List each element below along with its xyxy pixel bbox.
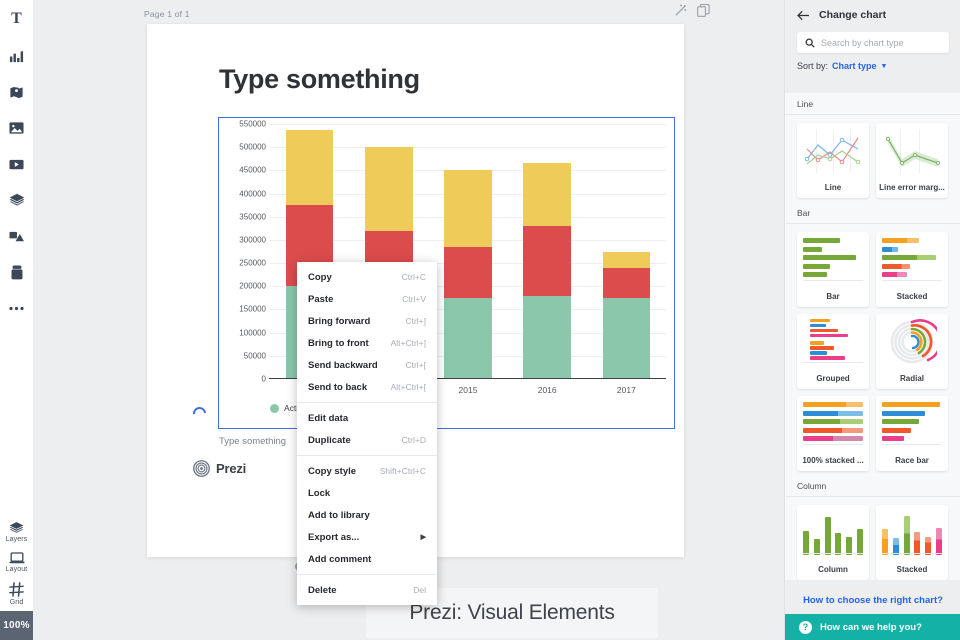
context-menu-item-label: Lock xyxy=(308,488,330,499)
context-menu-item-label: Send backward xyxy=(308,360,378,371)
bar-group xyxy=(444,170,492,379)
legend-swatch-action xyxy=(270,404,279,413)
bar-chart-icon xyxy=(9,49,24,64)
prezi-logo: Prezi xyxy=(193,460,246,477)
text-tool[interactable]: T xyxy=(0,0,33,38)
chart-type-line-error-margin[interactable]: Line error marg... xyxy=(876,123,948,198)
bar-segment xyxy=(523,163,571,226)
text-icon: T xyxy=(11,10,22,28)
y-tick-label: 0 xyxy=(262,375,266,384)
sort-control: Sort by: Chart type ▼ xyxy=(785,53,960,77)
section-items-line: Line Line error m xyxy=(785,115,960,202)
bar-segment xyxy=(523,296,571,379)
context-menu-item-shortcut: Ctrl+] xyxy=(405,316,426,326)
context-menu-item-send-to-back[interactable]: Send to back Alt+Ctrl+[ xyxy=(297,376,437,398)
grid-icon xyxy=(9,582,24,597)
context-menu-item-shortcut: Shift+Ctrl+C xyxy=(380,466,426,476)
stickers-tool[interactable] xyxy=(0,182,33,218)
prezi-wordmark: Prezi xyxy=(216,461,246,476)
section-title-bar: Bar xyxy=(785,202,960,224)
context-menu-separator xyxy=(297,402,437,403)
panel-title: Change chart xyxy=(819,9,886,21)
page-tools xyxy=(674,4,710,22)
bar-segment xyxy=(603,268,651,298)
context-menu-item-copy[interactable]: Copy Ctrl+C xyxy=(297,266,437,288)
bar-segment xyxy=(523,226,571,296)
y-tick-label: 350000 xyxy=(239,212,266,221)
x-tick-label: 2015 xyxy=(459,385,478,395)
y-tick-label: 100000 xyxy=(239,328,266,337)
line-multi-thumbnail-art xyxy=(797,123,869,179)
container-icon xyxy=(11,265,23,280)
bar-single-thumbnail-art xyxy=(797,232,869,288)
y-tick-label: 400000 xyxy=(239,189,266,198)
chart-object[interactable]: 550000 500000 450000 400000 350000 30000… xyxy=(218,117,675,429)
choose-right-chart-link[interactable]: How to choose the right chart? xyxy=(785,595,960,606)
grid-panel-button[interactable]: Grid xyxy=(0,578,33,611)
chart-search-box[interactable] xyxy=(797,32,949,53)
section-items-column: Column Stacked xyxy=(785,497,960,580)
context-menu-item-add-to-library[interactable]: Add to library xyxy=(297,504,437,526)
context-menu-item-bring-to-front[interactable]: Bring to front Alt+Ctrl+] xyxy=(297,332,437,354)
prezi-design-editor: T xyxy=(0,0,960,640)
more-tool[interactable] xyxy=(0,290,33,326)
chevron-down-icon[interactable]: ▼ xyxy=(881,63,888,70)
context-menu-separator xyxy=(297,574,437,575)
chart-type-label: Stacked xyxy=(876,561,948,580)
context-menu-separator xyxy=(297,455,437,456)
section-title-line: Line xyxy=(785,93,960,115)
map-tool[interactable] xyxy=(0,74,33,110)
context-menu-item-label: Send to back xyxy=(308,382,367,393)
context-menu-item-label: Bring to front xyxy=(308,338,369,349)
context-menu-item-label: Bring forward xyxy=(308,316,370,327)
shapes-icon xyxy=(9,230,24,243)
context-menu-item-label: Edit data xyxy=(308,413,348,424)
bar-segment xyxy=(365,147,413,230)
chart-type-column[interactable]: Column xyxy=(797,505,869,580)
context-menu-item-label: Paste xyxy=(308,294,333,305)
context-menu-item-shortcut: Del xyxy=(413,585,426,595)
magic-wand-icon[interactable] xyxy=(674,4,687,22)
page-indicator: Page 1 of 1 xyxy=(144,9,190,19)
grid-panel-label: Grid xyxy=(10,599,24,606)
slide-title[interactable]: Type something xyxy=(219,64,420,95)
back-arrow-icon[interactable] xyxy=(797,10,810,21)
context-menu[interactable]: Copy Ctrl+C Paste Ctrl+V Bring forward C… xyxy=(297,262,437,605)
race-bar-thumbnail-art xyxy=(876,396,948,452)
help-bar[interactable]: ? How can we help you? xyxy=(785,614,960,640)
x-tick-label: 2017 xyxy=(617,385,636,395)
change-chart-panel: Change chart Sort by: Chart type ▼ Line xyxy=(784,0,960,640)
submenu-arrow-icon: ▶ xyxy=(421,533,426,541)
bar-segment xyxy=(444,298,492,379)
context-menu-item-duplicate[interactable]: Duplicate Ctrl+D xyxy=(297,429,437,451)
chart-type-label: Grouped xyxy=(797,370,869,389)
context-menu-item-delete[interactable]: Delete Del xyxy=(297,579,437,601)
search-input[interactable] xyxy=(821,38,941,48)
video-tool[interactable] xyxy=(0,146,33,182)
layout-panel-label: Layout xyxy=(6,566,28,573)
context-menu-item-label: Add comment xyxy=(308,554,371,565)
context-menu-item-label: Delete xyxy=(308,585,337,596)
chart-type-label: Radial xyxy=(876,370,948,389)
container-tool[interactable] xyxy=(0,254,33,290)
chart-type-stacked-bar[interactable]: Stacked xyxy=(876,232,948,307)
chart-type-label: Stacked xyxy=(876,288,948,307)
bar-segment xyxy=(444,247,492,298)
bar-segment xyxy=(444,170,492,246)
layout-icon xyxy=(9,552,25,564)
help-bar-label: How can we help you? xyxy=(820,622,922,633)
search-icon xyxy=(805,38,815,48)
chart-type-grouped-bar[interactable]: Grouped xyxy=(797,314,869,389)
zoom-level-badge[interactable]: 100% xyxy=(0,611,33,640)
bar-segment xyxy=(603,252,651,268)
image-tool[interactable] xyxy=(0,110,33,146)
chart-type-radial[interactable]: Radial xyxy=(876,314,948,389)
context-menu-item-shortcut: Alt+Ctrl+[ xyxy=(391,382,426,392)
context-menu-item-shortcut: Ctrl+[ xyxy=(405,360,426,370)
bar-segment xyxy=(286,130,334,205)
layers-panel-label: Layers xyxy=(6,536,28,543)
layers-stack-icon xyxy=(9,193,25,207)
left-toolbar: T xyxy=(0,0,34,640)
y-tick-label: 250000 xyxy=(239,259,266,268)
chart-type-label: 100% stacked ... xyxy=(797,452,869,471)
column-single-thumbnail-art xyxy=(797,505,869,561)
y-tick-label: 550000 xyxy=(239,120,266,129)
x-tick-label: 2016 xyxy=(538,385,557,395)
chart-type-label: Line error marg... xyxy=(876,179,948,198)
context-menu-item-lock[interactable]: Lock xyxy=(297,482,437,504)
chart-type-list[interactable]: Line xyxy=(785,93,960,580)
canvas-area: Page 1 of 1 Type something xyxy=(33,0,784,640)
map-pin-icon xyxy=(9,85,24,100)
chart-type-label: Race bar xyxy=(876,452,948,471)
radial-thumbnail-art xyxy=(876,314,948,370)
chart-type-line[interactable]: Line xyxy=(797,123,869,198)
bar-segment xyxy=(603,298,651,379)
context-menu-item-label: Export as... xyxy=(308,532,359,543)
prezi-spiral-icon xyxy=(193,460,210,477)
panel-header: Change chart xyxy=(785,0,960,30)
chart-type-label: Bar xyxy=(797,288,869,307)
left-toolbar-bottom: Layers Layout Grid xyxy=(0,517,33,640)
sort-label: Sort by: xyxy=(797,61,828,71)
y-tick-label: 150000 xyxy=(239,305,266,314)
y-tick-label: 450000 xyxy=(239,166,266,175)
column-stacked-thumbnail-art xyxy=(876,505,948,561)
bar-group xyxy=(523,163,571,379)
line-error-thumbnail-art xyxy=(876,123,948,179)
context-menu-item-edit-data[interactable]: Edit data xyxy=(297,407,437,429)
context-menu-item-label: Duplicate xyxy=(308,435,351,446)
chart-type-100-stacked[interactable]: 100% stacked ... xyxy=(797,396,869,471)
bar-grouped-thumbnail-art xyxy=(797,314,869,370)
loading-spinner-icon xyxy=(190,404,208,422)
question-mark-icon: ? xyxy=(799,621,812,634)
video-icon xyxy=(9,159,24,170)
context-menu-item-copy-style[interactable]: Copy style Shift+Ctrl+C xyxy=(297,460,437,482)
chart-type-bar[interactable]: Bar xyxy=(797,232,869,307)
context-menu-item-label: Add to library xyxy=(308,510,370,521)
slide-caption-placeholder[interactable]: Type something xyxy=(219,436,286,447)
sort-value[interactable]: Chart type xyxy=(832,61,877,71)
bar-group xyxy=(603,252,651,380)
y-tick-label: 50000 xyxy=(244,351,266,360)
image-icon xyxy=(9,121,24,135)
layout-panel-button[interactable]: Layout xyxy=(0,548,33,578)
context-menu-item-bring-forward[interactable]: Bring forward Ctrl+] xyxy=(297,310,437,332)
chart-type-race-bar[interactable]: Race bar xyxy=(876,396,948,471)
context-menu-item-shortcut: Ctrl+V xyxy=(402,294,426,304)
bar-100-thumbnail-art xyxy=(797,396,869,452)
bar-stacked-thumbnail-art xyxy=(876,232,948,288)
chart-type-label: Line xyxy=(797,179,869,198)
ellipsis-icon xyxy=(9,306,24,311)
chart-tool[interactable] xyxy=(0,38,33,74)
context-menu-item-shortcut: Alt+Ctrl+] xyxy=(391,338,426,348)
context-menu-item-label: Copy xyxy=(308,272,332,283)
shapes-tool[interactable] xyxy=(0,218,33,254)
chart-type-stacked-column[interactable]: Stacked xyxy=(876,505,948,580)
context-menu-item-export-as[interactable]: Export as... ▶ xyxy=(297,526,437,548)
context-menu-item-shortcut: Ctrl+C xyxy=(402,272,426,282)
layers-panel-button[interactable]: Layers xyxy=(0,517,33,548)
context-menu-item-paste[interactable]: Paste Ctrl+V xyxy=(297,288,437,310)
chart-type-label: Column xyxy=(797,561,869,580)
context-menu-item-add-comment[interactable]: Add comment xyxy=(297,548,437,570)
y-tick-label: 200000 xyxy=(239,282,266,291)
y-tick-label: 300000 xyxy=(239,235,266,244)
y-tick-label: 500000 xyxy=(239,143,266,152)
section-title-column: Column xyxy=(785,475,960,497)
layers-icon xyxy=(9,521,24,534)
context-menu-item-send-backward[interactable]: Send backward Ctrl+[ xyxy=(297,354,437,376)
section-items-bar: Bar Stacked xyxy=(785,224,960,475)
duplicate-page-icon[interactable] xyxy=(697,4,710,22)
context-menu-item-shortcut: Ctrl+D xyxy=(402,435,426,445)
context-menu-item-label: Copy style xyxy=(308,466,356,477)
